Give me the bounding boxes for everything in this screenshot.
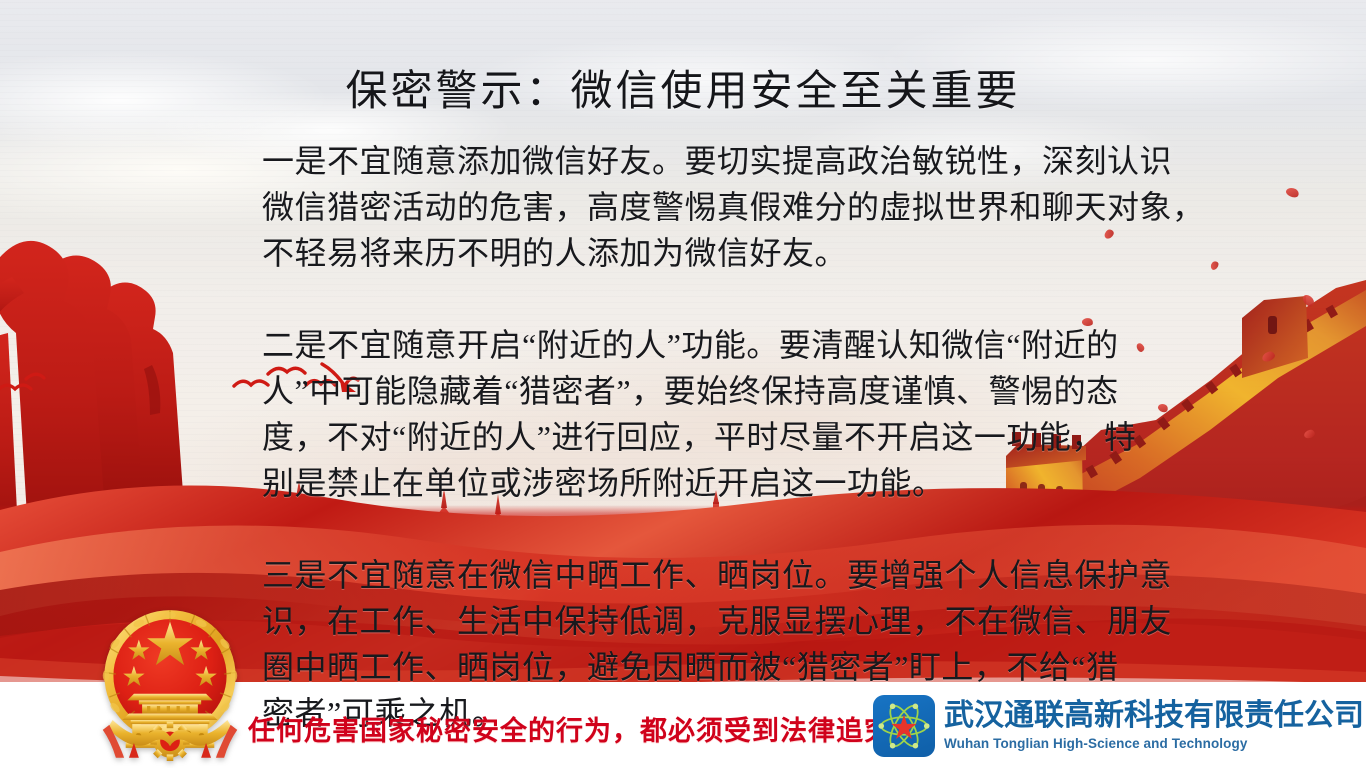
paragraph-spacer bbox=[262, 506, 1252, 552]
company-logo[interactable]: 武汉通联高新科技有限责任公司 Wuhan Tonglian High-Scien… bbox=[873, 690, 1364, 762]
flying-birds-icon bbox=[0, 368, 64, 402]
company-name-block: 武汉通联高新科技有限责任公司 Wuhan Tonglian High-Scien… bbox=[944, 701, 1364, 751]
paragraph-line: 人”中可能隐藏着“猎密者”，要始终保持高度谨慎、警惕的态 bbox=[262, 368, 1252, 414]
paragraph-line: 一是不宜随意添加微信好友。要切实提高政治敏锐性，深刻认识 bbox=[262, 138, 1252, 184]
page-title: 保密警示：微信使用安全至关重要 bbox=[0, 68, 1366, 116]
body-text: 一是不宜随意添加微信好友。要切实提高政治敏锐性，深刻认识 微信猎密活动的危害，高… bbox=[262, 138, 1252, 736]
slide-canvas: 保密警示：微信使用安全至关重要 一是不宜随意添加微信好友。要切实提高政治敏锐性，… bbox=[0, 0, 1366, 768]
paragraph-line: 三是不宜随意在微信中晒工作、晒岗位。要增强个人信息保护意 bbox=[262, 552, 1252, 598]
company-name-cn: 武汉通联高新科技有限责任公司 bbox=[944, 701, 1364, 731]
paragraph-line: 二是不宜随意开启“附近的人”功能。要清醒认知微信“附近的 bbox=[262, 322, 1252, 368]
paragraph-line: 别是禁止在单位或涉密场所附近开启这一功能。 bbox=[262, 460, 1252, 506]
paragraph-line: 识，在工作、生活中保持低调，克服显摆心理，不在微信、朋友 bbox=[262, 598, 1252, 644]
paragraph-line: 微信猎密活动的危害，高度警惕真假难分的虚拟世界和聊天对象， bbox=[262, 184, 1252, 230]
national-emblem-of-china bbox=[88, 597, 252, 761]
footer-slogan: 任何危害国家秘密安全的行为，都必须受到法律追究。 bbox=[248, 709, 920, 748]
company-name-en: Wuhan Tonglian High-Science and Technolo… bbox=[944, 737, 1364, 751]
paragraph-2: 二是不宜随意开启“附近的人”功能。要清醒认知微信“附近的 人”中可能隐藏着“猎密… bbox=[262, 322, 1252, 506]
paragraph-line: 度，不对“附近的人”进行回应，平时尽量不开启这一功能，特 bbox=[262, 414, 1252, 460]
atom-star-icon bbox=[873, 695, 935, 757]
paragraph-1: 一是不宜随意添加微信好友。要切实提高政治敏锐性，深刻认识 微信猎密活动的危害，高… bbox=[262, 138, 1252, 276]
paragraph-line: 不轻易将来历不明的人添加为微信好友。 bbox=[262, 230, 1252, 276]
paragraph-line: 圈中晒工作、晒岗位，避免因晒而被“猎密者”盯上，不给“猎 bbox=[262, 644, 1252, 690]
paragraph-spacer bbox=[262, 276, 1252, 322]
